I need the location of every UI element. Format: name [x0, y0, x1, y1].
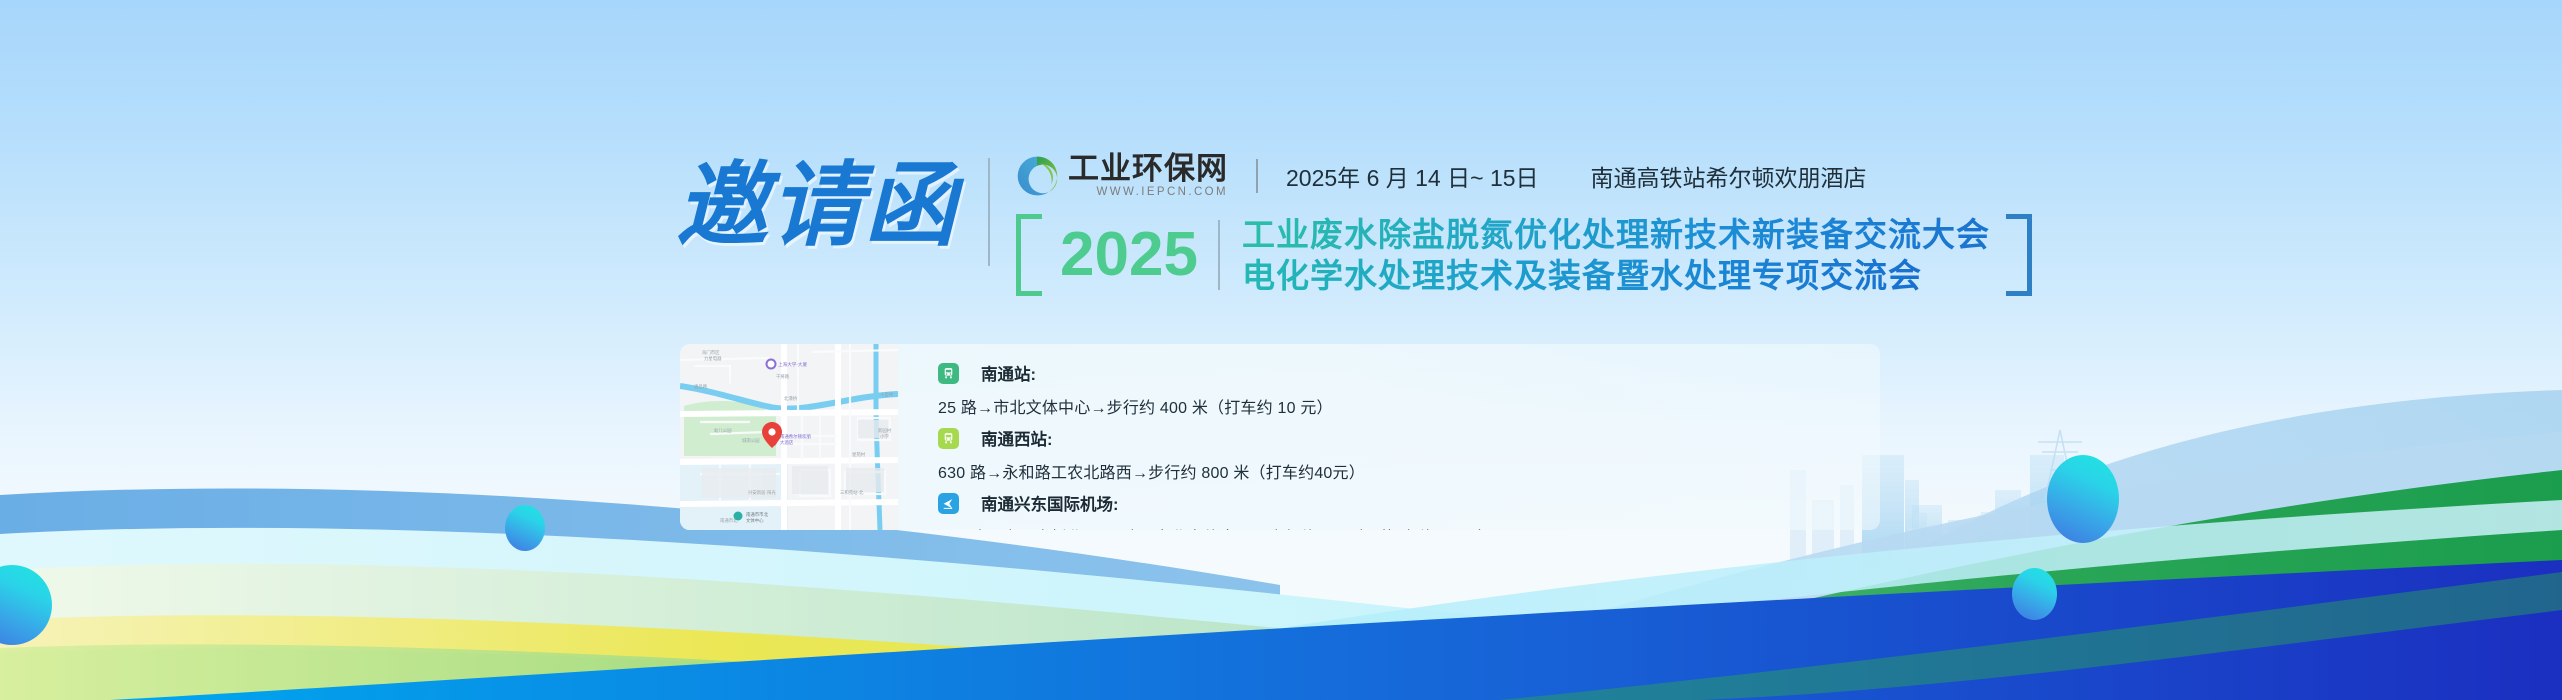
brand-text: 工业环保网 WWW.IEPCN.COM	[1068, 153, 1228, 199]
event-date: 2025年 6 月 14 日~ 15日	[1286, 159, 1539, 193]
transport-info-panel: 海门市区 力星电器 干将路 通吕路 幼儿公园 城南公园 北濠桥 十里林 新园村 …	[680, 344, 1880, 530]
circular-ring-logo-icon	[1016, 155, 1058, 197]
svg-text:十里林: 十里林	[880, 391, 894, 398]
venue-map-thumbnail[interactable]: 海门市区 力星电器 干将路 通吕路 幼儿公园 城南公园 北濠桥 十里林 新园村 …	[680, 344, 898, 530]
transport-entry: 南通西站: 630 路→永和路工农北路西→步行约 800 米（打车约40元）	[938, 425, 1880, 483]
svg-text:力星电器: 力星电器	[704, 355, 722, 362]
meta-divider	[1256, 159, 1258, 193]
svg-text:北濠桥: 北濠桥	[784, 395, 798, 402]
brand-logo: 工业环保网 WWW.IEPCN.COM	[1016, 153, 1228, 199]
transport-list: 南通站: 25 路→市北文体中心→步行约 400 米（打车约 10 元）	[898, 344, 1880, 530]
svg-text:干将路: 干将路	[776, 373, 790, 380]
decorative-sphere-edge	[0, 565, 52, 645]
svg-text:星苑村: 星苑村	[852, 451, 866, 458]
svg-text:城南公园: 城南公园	[742, 437, 760, 444]
train-station-icon	[938, 428, 959, 449]
svg-text:海门市区: 海门市区	[702, 349, 720, 356]
conference-title-row: 2025 工业废水除盐脱氮优化处理新技术新装备交流大会 电化学水处理技术及装备暨…	[1016, 214, 2032, 296]
conference-title-line-2: 电化学水处理技术及装备暨水处理专项交流会	[1242, 255, 1990, 296]
svg-text:兴安新居·阳光: 兴安新居·阳光	[748, 489, 776, 496]
svg-text:通吕路: 通吕路	[694, 383, 708, 390]
decorative-sphere-large	[2047, 455, 2119, 543]
svg-text:南通市市北: 南通市市北	[746, 511, 769, 518]
right-bracket	[2006, 214, 2032, 296]
banner-header: 邀请函	[676, 152, 2032, 296]
decorative-sphere-medium	[2012, 568, 2057, 620]
transport-route: 630 路→永和路工农北路西→步行约 800 米（打车约40元）	[938, 459, 1880, 483]
header-right-column: 工业环保网 WWW.IEPCN.COM 2025年 6 月 14 日~ 15日 …	[1016, 152, 2032, 296]
transport-entry-head: 南通西站:	[938, 425, 1880, 451]
svg-text:南通希尔顿欢朋: 南通希尔顿欢朋	[780, 433, 811, 440]
svg-text:上海大学-大厦: 上海大学-大厦	[778, 361, 807, 368]
svg-text:幼儿公园: 幼儿公园	[714, 427, 732, 434]
meta-row: 工业环保网 WWW.IEPCN.COM 2025年 6 月 14 日~ 15日 …	[1016, 152, 2032, 200]
svg-text:小学: 小学	[880, 433, 889, 440]
transport-entry: 南通站: 25 路→市北文体中心→步行约 400 米（打车约 10 元）	[938, 360, 1880, 418]
transport-route: 25 路→市北文体中心→步行约 400 米（打车约 10 元）	[938, 394, 1880, 418]
transport-entry-head: 南通兴东国际机场:	[938, 490, 1880, 516]
airplane-icon	[938, 493, 959, 514]
svg-text:新园村: 新园村	[878, 427, 892, 434]
title-divider	[988, 158, 990, 266]
transport-entry: 南通兴东国际机场: 622 路→崇川大桥北→25 路→市北文体中心→步行约 40…	[938, 490, 1880, 530]
svg-text:大酒店: 大酒店	[780, 439, 794, 446]
event-year: 2025	[1054, 217, 1214, 293]
invitation-banner: 邀请函	[0, 0, 2562, 700]
event-venue: 南通高铁站希尔顿欢朋酒店	[1591, 159, 1867, 193]
conference-divider	[1218, 220, 1220, 290]
map-graphic: 海门市区 力星电器 干将路 通吕路 幼儿公园 城南公园 北濠桥 十里林 新园村 …	[680, 344, 898, 530]
left-bracket	[1016, 214, 1042, 296]
conference-title-line-1: 工业废水除盐脱氮优化处理新技术新装备交流大会	[1242, 214, 1990, 255]
transport-route: 622 路→崇川大桥北→25 路→市北文体中心→步行约 400 米（打车约 40…	[938, 524, 1880, 530]
svg-text:三和苑站·北: 三和苑站·北	[840, 489, 864, 496]
brand-name: 工业环保网	[1068, 153, 1228, 184]
transport-station-name: 南通站:	[981, 361, 1036, 385]
transport-entry-head: 南通站:	[938, 360, 1880, 386]
svg-text:文体中心: 文体中心	[746, 517, 764, 524]
page-title: 邀请函	[676, 152, 958, 252]
train-station-icon	[938, 363, 959, 384]
transport-station-name: 南通兴东国际机场:	[981, 491, 1119, 515]
decorative-sphere-small	[505, 505, 545, 551]
transport-station-name: 南通西站:	[981, 426, 1053, 450]
brand-url: WWW.IEPCN.COM	[1068, 187, 1228, 199]
conference-title: 工业废水除盐脱氮优化处理新技术新装备交流大会 电化学水处理技术及装备暨水处理专项…	[1242, 214, 1990, 296]
